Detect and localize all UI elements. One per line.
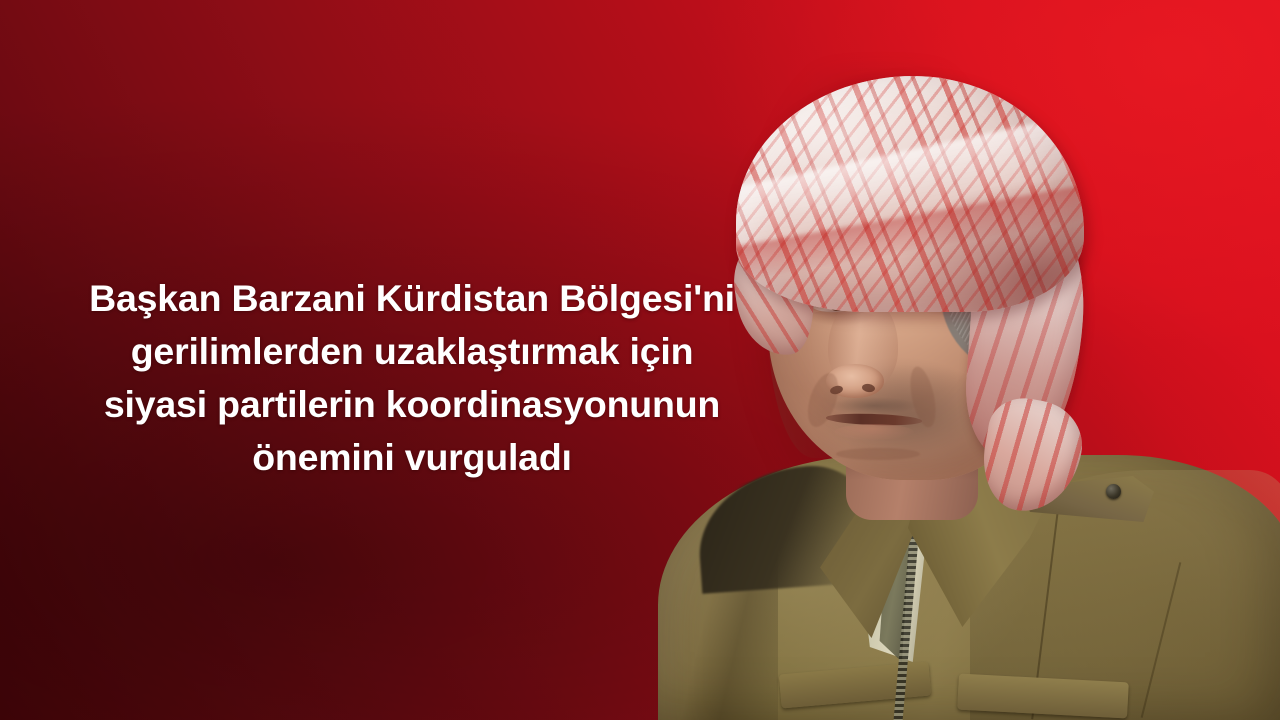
- lower-lip: [834, 424, 914, 440]
- turban-shading: [736, 76, 1084, 312]
- turban: [736, 76, 1084, 312]
- chin-crease: [836, 448, 920, 460]
- epaulette-button: [1106, 484, 1121, 499]
- news-banner: Başkan Barzani Kürdistan Bölgesi'ni geri…: [0, 0, 1280, 720]
- headline-text: Başkan Barzani Kürdistan Bölgesi'ni geri…: [36, 272, 788, 484]
- turban-lower-band: [975, 393, 1089, 520]
- turban-lower-band-pattern: [975, 393, 1089, 520]
